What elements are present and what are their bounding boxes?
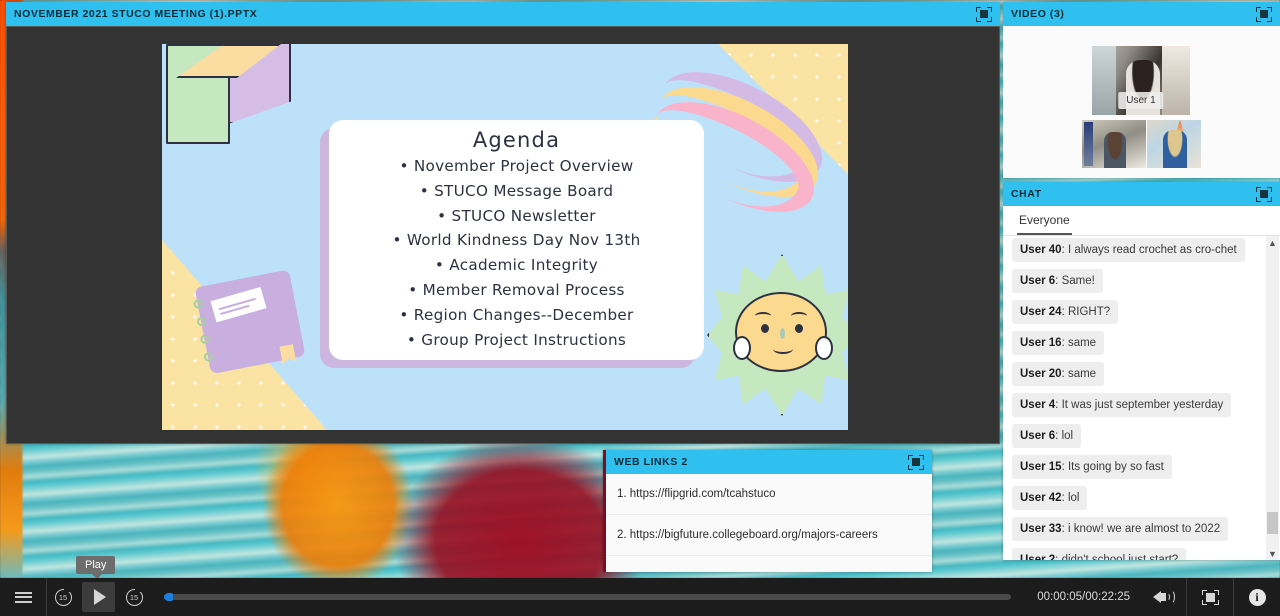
weblinks-title: WEB LINKS 2 (614, 456, 688, 468)
chat-message: User 4: It was just september yesterday (1012, 393, 1231, 417)
rewind-label: 15 (59, 593, 67, 602)
video-panel: VIDEO (3) User 1 (1003, 2, 1280, 178)
chat-message: User 42: lol (1012, 486, 1087, 510)
chat-message: User 33: i know! we are almost to 2022 (1012, 517, 1228, 541)
play-icon (94, 589, 106, 605)
chat-header: CHAT (1003, 182, 1280, 206)
chat-message-user: User 6 (1020, 430, 1055, 442)
player-controls: 15 15 00:00:05/00:22:25 i (0, 578, 1280, 616)
chat-message: User 6: Same! (1012, 269, 1103, 293)
tab-everyone[interactable]: Everyone (1017, 210, 1072, 235)
chat-message-user: User 20 (1020, 368, 1062, 380)
progress-knob[interactable] (166, 593, 173, 601)
chat-message-user: User 15 (1020, 461, 1062, 473)
chat-message-text: I always read crochet as cro-chet (1068, 244, 1237, 256)
expand-icon[interactable] (1256, 7, 1272, 22)
chat-message-text: same (1068, 368, 1096, 380)
forward-label: 15 (130, 593, 138, 602)
chevron-up-icon[interactable]: ▲ (1266, 236, 1279, 249)
chat-tabs: Everyone (1003, 206, 1280, 236)
agenda-bullet: Member Removal Process (339, 278, 694, 303)
agenda-bullet: STUCO Newsletter (339, 204, 694, 229)
presentation-stage: Agenda November Project Overview STUCO M… (6, 26, 1000, 444)
timecode: 00:00:05/00:22:25 (1025, 591, 1142, 603)
meeting-playback-page: NOVEMBER 2021 STUCO MEETING (1).PPTX (0, 0, 1280, 616)
presentation-header: NOVEMBER 2021 STUCO MEETING (1).PPTX (6, 2, 1000, 26)
chat-message-user: User 42 (1020, 492, 1062, 504)
agenda-bullet: World Kindness Day Nov 13th (339, 228, 694, 253)
chat-message-text: i know! we are almost to 2022 (1068, 523, 1220, 535)
play-button[interactable] (82, 582, 115, 612)
chat-message: User 6: lol (1012, 424, 1081, 448)
decor-notebook (186, 264, 312, 379)
agenda-bullet: Academic Integrity (339, 253, 694, 278)
chat-message-text: lol (1062, 430, 1074, 442)
progress-bar[interactable] (164, 594, 1011, 600)
video-title: VIDEO (3) (1011, 8, 1064, 20)
decor-starburst-face (707, 254, 848, 416)
play-tooltip: Play (76, 556, 115, 574)
agenda-bullet: STUCO Message Board (339, 179, 694, 204)
video-participant-name: User 1 (1118, 92, 1163, 109)
expand-icon[interactable] (976, 7, 992, 22)
weblink-item[interactable]: 2. https://bigfuture.collegeboard.org/ma… (606, 515, 932, 556)
chat-message-list[interactable]: User 40: I always read crochet as cro-ch… (1003, 236, 1280, 560)
chat-message-user: User 2 (1020, 554, 1055, 560)
info-icon[interactable]: i (1234, 578, 1280, 616)
agenda-bullet: Group Project Instructions (339, 328, 694, 353)
chat-panel: CHAT Everyone User 40: I always read cro… (1003, 182, 1280, 560)
chat-message-text: same (1068, 337, 1096, 349)
chat-message: User 16: same (1012, 331, 1104, 355)
chat-message-text: It was just september yesterday (1062, 399, 1224, 411)
chat-message: User 40: I always read crochet as cro-ch… (1012, 238, 1245, 262)
chat-message: User 2: didn't school just start? (1012, 548, 1186, 560)
decor-cube-3d (166, 44, 291, 149)
chat-message-user: User 4 (1020, 399, 1055, 411)
agenda-heading: Agenda (339, 128, 694, 152)
slide-canvas: Agenda November Project Overview STUCO M… (162, 44, 848, 430)
volume-icon[interactable] (1142, 578, 1186, 616)
expand-icon[interactable] (1256, 187, 1272, 202)
weblinks-header: WEB LINKS 2 (606, 450, 932, 474)
agenda-bullet: Region Changes--December (339, 303, 694, 328)
chat-message-text: Same! (1062, 275, 1095, 287)
fullscreen-icon[interactable] (1187, 578, 1233, 616)
rewind-15-button[interactable]: 15 (47, 578, 79, 616)
chat-message-user: User 40 (1020, 244, 1062, 256)
video-tile-secondary[interactable] (1147, 120, 1201, 168)
agenda-card: Agenda November Project Overview STUCO M… (329, 120, 704, 360)
hamburger-menu-icon[interactable] (0, 578, 46, 616)
weblink-item[interactable]: 1. https://flipgrid.com/tcahstuco (606, 474, 932, 515)
chat-message-user: User 16 (1020, 337, 1062, 349)
chat-message-text: lol (1068, 492, 1080, 504)
chat-message: User 15: Its going by so fast (1012, 455, 1172, 479)
chat-message-user: User 33 (1020, 523, 1062, 535)
forward-15-button[interactable]: 15 (118, 578, 150, 616)
chat-scrollbar-thumb[interactable] (1267, 512, 1278, 534)
video-header: VIDEO (3) (1003, 2, 1280, 26)
video-tile-secondary[interactable] (1082, 120, 1146, 168)
chat-scrollbar[interactable]: ▲ ▼ (1266, 236, 1279, 560)
presentation-panel: NOVEMBER 2021 STUCO MEETING (1).PPTX (6, 2, 1000, 444)
agenda-bullet: November Project Overview (339, 154, 694, 179)
chat-message: User 24: RIGHT? (1012, 300, 1118, 324)
expand-icon[interactable] (908, 455, 924, 470)
chevron-down-icon[interactable]: ▼ (1266, 547, 1279, 560)
chat-message-user: User 6 (1020, 275, 1055, 287)
video-tile-main[interactable]: User 1 (1092, 46, 1190, 115)
chat-message-text: didn't school just start? (1062, 554, 1179, 560)
chat-message: User 20: same (1012, 362, 1104, 386)
chat-title: CHAT (1011, 188, 1042, 200)
chat-message-text: RIGHT? (1068, 306, 1110, 318)
chat-message-text: Its going by so fast (1068, 461, 1164, 473)
presentation-title: NOVEMBER 2021 STUCO MEETING (1).PPTX (14, 8, 257, 20)
video-grid: User 1 (1003, 26, 1280, 178)
chat-message-user: User 24 (1020, 306, 1062, 318)
weblinks-panel: WEB LINKS 2 1. https://flipgrid.com/tcah… (603, 450, 932, 572)
